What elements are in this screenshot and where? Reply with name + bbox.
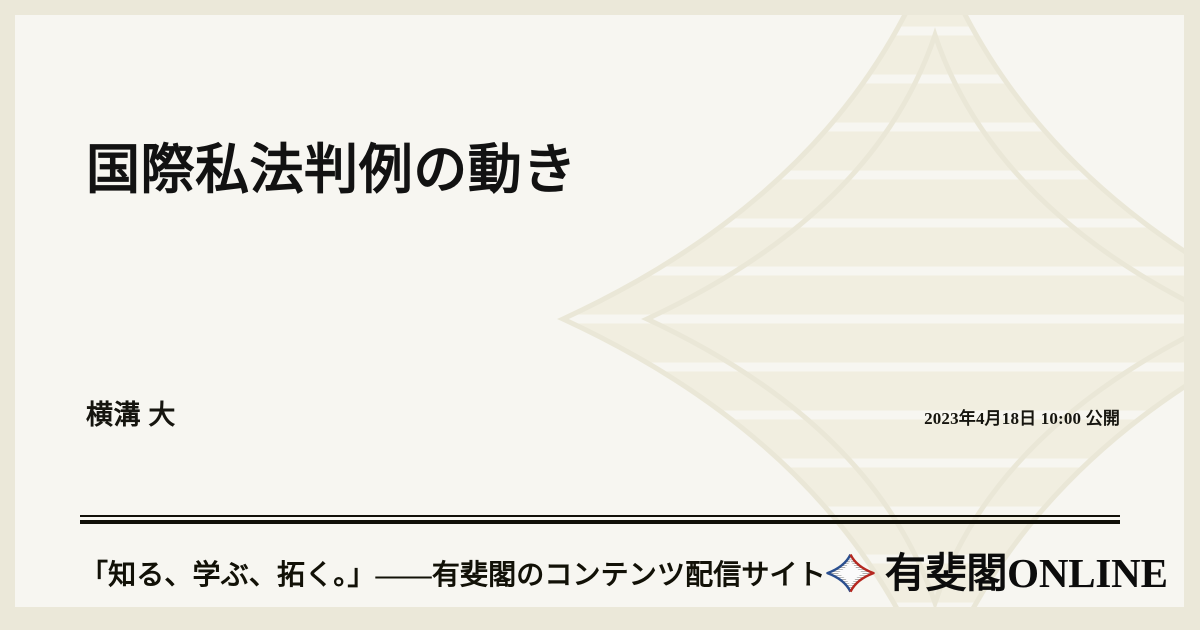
brand-lockup: 有斐閣ONLINE xyxy=(826,553,1168,594)
card-panel: 国際私法判例の動き 横溝 大 2023年4月18日 10:00 公開 「知る、学… xyxy=(15,15,1184,607)
yuhikaku-diamond-icon xyxy=(826,553,875,593)
ogp-card: 国際私法判例の動き 横溝 大 2023年4月18日 10:00 公開 「知る、学… xyxy=(0,0,1200,630)
footer-divider-thin-line xyxy=(80,515,1120,517)
site-tagline: 「知る、学ぶ、拓く。」——有斐閣のコンテンツ配信サイト xyxy=(80,553,826,593)
publish-date: 2023年4月18日 10:00 公開 xyxy=(924,404,1120,429)
footer-divider xyxy=(80,515,1120,523)
footer-divider-thick-line xyxy=(80,520,1120,524)
card-content: 国際私法判例の動き 横溝 大 2023年4月18日 10:00 公開 「知る、学… xyxy=(15,15,1184,607)
card-footer: 「知る、学ぶ、拓く。」——有斐閣のコンテンツ配信サイト xyxy=(80,543,1120,603)
article-meta-row: 横溝 大 2023年4月18日 10:00 公開 xyxy=(86,393,1120,432)
author-name: 横溝 大 xyxy=(86,393,176,432)
brand-name: 有斐閣ONLINE xyxy=(885,553,1168,594)
page-title: 国際私法判例の動き xyxy=(86,134,806,207)
